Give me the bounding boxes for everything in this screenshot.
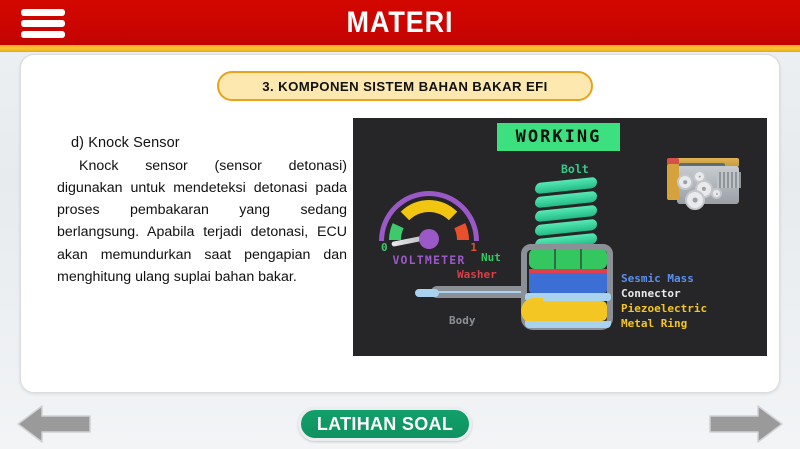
working-banner: WORKING xyxy=(497,123,620,151)
label-seismic-mass: Sesmic Mass xyxy=(621,272,694,285)
engine-pulley-1 xyxy=(677,174,693,190)
label-metal-ring: Metal Ring xyxy=(621,317,687,330)
gauge-hub xyxy=(419,229,439,249)
knock-sensor-diagram: WORKING 0 1 VOLTMETER xyxy=(353,118,767,356)
seismic-mass-layer xyxy=(529,273,607,293)
header-accent-stripe xyxy=(0,45,800,52)
page-title: MATERI xyxy=(40,0,760,45)
engine-pulley-5 xyxy=(711,188,722,199)
arrow-right-icon[interactable] xyxy=(708,404,784,444)
app-header: MATERI xyxy=(0,0,800,45)
gauge-label: VOLTMETER xyxy=(377,253,481,267)
label-connector: Connector xyxy=(621,287,681,300)
nut-layer xyxy=(529,249,607,269)
content-card: 3. KOMPONEN SISTEM BAHAN BAKAR EFI d) Kn… xyxy=(20,54,780,393)
label-body: Body xyxy=(449,314,476,327)
car-engine-icon xyxy=(655,150,741,212)
sensor-stem-tip xyxy=(415,289,439,297)
piezoelectric-layer xyxy=(529,301,607,321)
metal-ring-layer xyxy=(525,321,611,328)
engine-pulley-4 xyxy=(685,190,705,210)
voltmeter-gauge: 0 1 VOLTMETER xyxy=(379,191,479,263)
label-washer: Washer xyxy=(457,268,497,281)
label-bolt: Bolt xyxy=(561,162,589,176)
latihan-soal-button[interactable]: LATIHAN SOAL xyxy=(298,407,472,441)
label-piezoelectric: Piezoelectric xyxy=(621,302,707,315)
engine-fins xyxy=(717,172,741,188)
lesson-text-column: d) Knock Sensor Knock sensor (sensor det… xyxy=(57,135,347,288)
section-title-banner: 3. KOMPONEN SISTEM BAHAN BAKAR EFI xyxy=(217,71,593,101)
body-paragraph: Knock sensor (sensor detonasi) digunakan… xyxy=(57,155,347,288)
label-nut: Nut xyxy=(481,251,501,264)
sensor-stem xyxy=(431,286,527,298)
subheading: d) Knock Sensor xyxy=(71,135,347,151)
arrow-left-icon[interactable] xyxy=(16,404,92,444)
